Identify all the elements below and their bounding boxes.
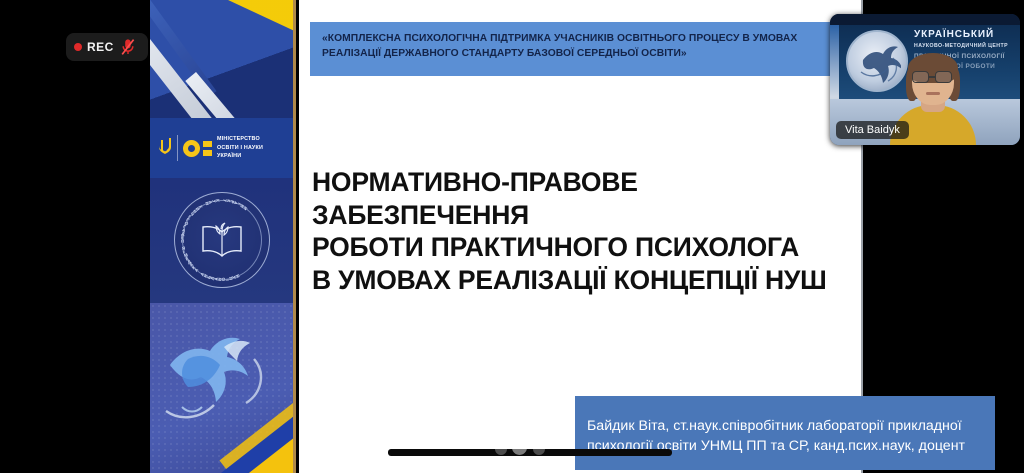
trident-icon	[158, 136, 172, 160]
academy-seal-ring-text: НАЦІОНАЛЬНА АКАДЕМІЯ ПЕДАГОГІЧНИХ НАУК У…	[175, 193, 269, 287]
slide-title-line-2: РОБОТИ ПРАКТИЧНОГО ПСИХОЛОГА	[312, 231, 852, 264]
shared-screen-stage[interactable]: МІНІСТЕРСТВО ОСВІТИ І НАУКИ УКРАЇНИ НАЦІ…	[150, 0, 863, 473]
dove-emblem-icon	[150, 303, 296, 473]
ministry-logo-text: МІНІСТЕРСТВО ОСВІТИ І НАУКИ УКРАЇНИ	[217, 135, 263, 160]
backdrop-line-1: УКРАЇНСЬКИЙ	[914, 29, 1016, 40]
caption-line-1: Байдик Віта, ст.наук.співробітник лабора…	[587, 416, 983, 436]
recording-label: REC	[87, 40, 114, 54]
ministry-of-education-logo: МІНІСТЕРСТВО ОСВІТИ І НАУКИ УКРАЇНИ	[150, 118, 296, 178]
cursor-click-highlight	[495, 440, 551, 458]
backdrop-top-bar	[830, 14, 1020, 25]
academy-seal-area: НАЦІОНАЛЬНА АКАДЕМІЯ ПЕДАГОГІЧНИХ НАУК У…	[150, 178, 296, 303]
recording-indicator[interactable]: REC	[66, 33, 148, 61]
participant-video-tile[interactable]: УКРАЇНСЬКИЙ НАУКОВО-МЕТОДИЧНИЙ ЦЕНТР ПРА…	[830, 14, 1020, 145]
geometric-artwork	[150, 0, 296, 128]
logo-divider	[177, 135, 178, 161]
eyeglasses-icon	[912, 71, 929, 83]
academy-seal-icon: НАЦІОНАЛЬНА АКАДЕМІЯ ПЕДАГОГІЧНИХ НАУК У…	[174, 192, 270, 288]
slide-title-line-1: НОРМАТИВНО-ПРАВОВЕ ЗАБЕЗПЕЧЕННЯ	[312, 166, 852, 231]
slide-canvas[interactable]: «КОМПЛЕКСНА ПСИХОЛОГІЧНА ПІДТРИМКА УЧАСН…	[299, 0, 863, 473]
ministry-line-3: УКРАЇНИ	[217, 153, 241, 159]
ministry-line-1: МІНІСТЕРСТВО	[217, 136, 260, 142]
participant-name-label: Vita Baidyk	[836, 121, 909, 139]
ministry-line-2: ОСВІТИ І НАУКИ	[217, 145, 263, 151]
slide-banner: «КОМПЛЕКСНА ПСИХОЛОГІЧНА ПІДТРИМКА УЧАСН…	[310, 22, 858, 76]
slide-title-line-3: В УМОВАХ РЕАЛІЗАЦІЇ КОНЦЕПЦІЇ НУШ	[312, 264, 852, 297]
slide-title: НОРМАТИВНО-ПРАВОВЕ ЗАБЕЗПЕЧЕННЯ РОБОТИ П…	[312, 166, 852, 296]
microphone-muted-icon[interactable]	[120, 38, 136, 56]
slide-banner-text: «КОМПЛЕКСНА ПСИХОЛОГІЧНА ПІДТРИМКА УЧАСН…	[322, 32, 846, 62]
slide-author-caption: Байдик Віта, ст.наук.співробітник лабора…	[575, 396, 995, 470]
screen-capture: REC	[0, 0, 1024, 473]
eyeglasses-icon	[935, 71, 952, 83]
slide-sidebar-graphic: МІНІСТЕРСТВО ОСВІТИ І НАУКИ УКРАЇНИ НАЦІ…	[150, 0, 296, 473]
mon-mark-icon	[183, 140, 212, 157]
recording-dot-icon	[74, 43, 82, 51]
